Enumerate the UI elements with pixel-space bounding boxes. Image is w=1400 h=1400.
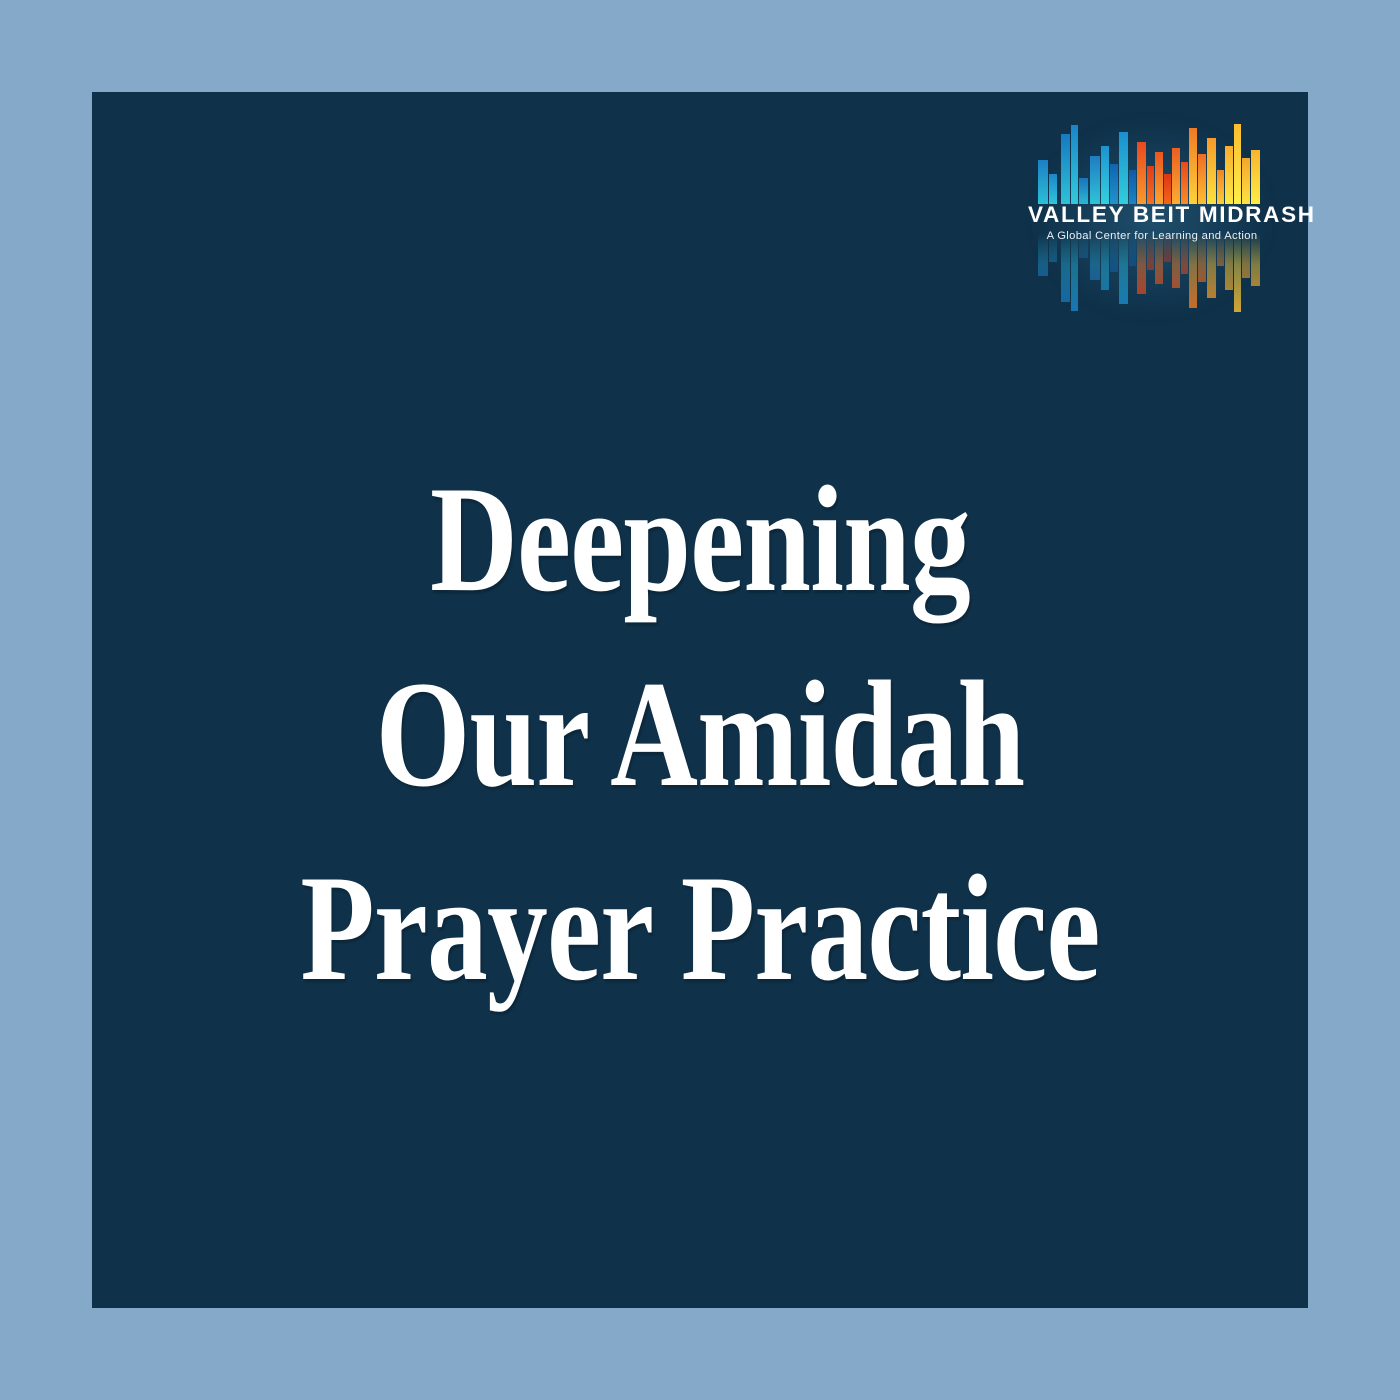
- logo-bar: [1147, 166, 1154, 204]
- logo-bar: [1242, 158, 1250, 204]
- logo-tagline: A Global Center for Learning and Action: [1028, 228, 1276, 245]
- logo-bar: [1101, 146, 1109, 204]
- page-title-line-1: Deepening: [214, 442, 1187, 637]
- logo-bar: [1225, 146, 1233, 204]
- page-title-line-2: Our Amidah: [214, 637, 1187, 832]
- logo-bar: [1198, 154, 1206, 204]
- logo-bar: [1181, 162, 1188, 204]
- logo-bar: [1234, 124, 1241, 204]
- logo-bar: [1110, 164, 1118, 204]
- logo-bar: [1207, 138, 1216, 204]
- logo-bar: [1129, 170, 1136, 204]
- logo-bar: [1164, 174, 1171, 204]
- logo-title: VALLEY BEIT MIDRASH: [1028, 202, 1276, 227]
- logo-bar: [1217, 170, 1224, 204]
- logo-bar: [1119, 132, 1128, 204]
- poster-canvas: VALLEY BEIT MIDRASH A Global Center for …: [0, 0, 1400, 1400]
- skyline-equalizer-bars-icon: [1038, 116, 1266, 204]
- valley-beit-midrash-logo: VALLEY BEIT MIDRASH A Global Center for …: [1028, 114, 1276, 329]
- logo-bar: [1038, 160, 1048, 204]
- logo-bar: [1061, 134, 1070, 204]
- logo-bar: [1071, 125, 1078, 204]
- logo-wordmark: VALLEY BEIT MIDRASH A Global Center for …: [1028, 202, 1276, 245]
- logo-bar: [1137, 142, 1146, 204]
- page-title: Deepening Our Amidah Prayer Practice: [92, 442, 1308, 1026]
- logo-bar: [1172, 148, 1180, 204]
- logo-bar: [1189, 128, 1197, 204]
- logo-bar: [1090, 156, 1100, 204]
- logo-bar: [1049, 174, 1057, 204]
- page-title-line-3: Prayer Practice: [214, 831, 1187, 1026]
- logo-bar: [1155, 152, 1163, 204]
- logo-bar: [1079, 178, 1088, 204]
- poster-inner-panel: VALLEY BEIT MIDRASH A Global Center for …: [92, 92, 1308, 1308]
- logo-bar: [1251, 150, 1260, 204]
